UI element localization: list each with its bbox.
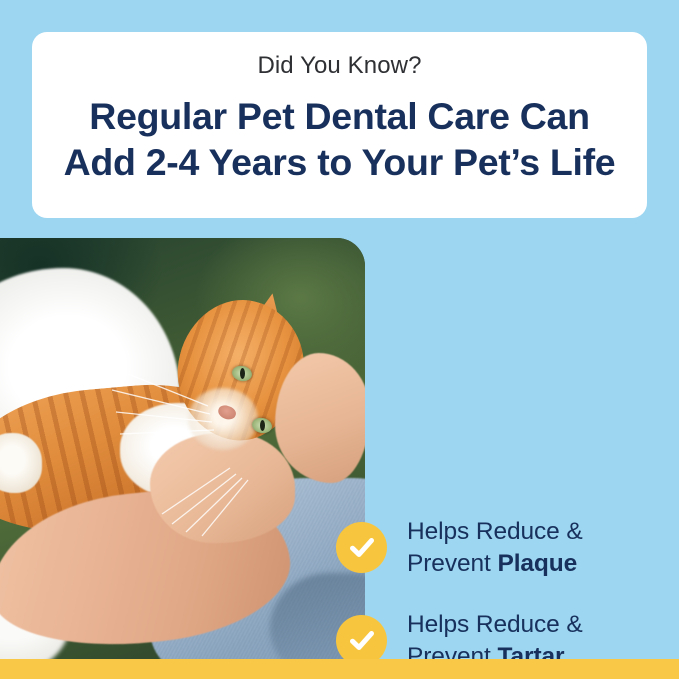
page-title: Regular Pet Dental Care Can Add 2-4 Year…: [64, 93, 616, 186]
bottom-accent-bar: [0, 659, 679, 679]
benefit-line-1: Helps Reduce &: [407, 609, 583, 641]
cat-photo: [0, 238, 365, 659]
headline-card: Did You Know? Regular Pet Dental Care Ca…: [32, 32, 647, 218]
eyebrow-text: Did You Know?: [257, 52, 421, 81]
benefit-line-2-bold: Plaque: [497, 550, 577, 577]
benefit-line-2: Prevent Plaque: [407, 548, 583, 580]
benefits-list: Helps Reduce & Prevent Plaque Helps Redu…: [336, 238, 679, 659]
benefit-label: Helps Reduce & Prevent Plaque: [407, 516, 583, 580]
benefit-line-1: Helps Reduce &: [407, 516, 583, 548]
benefit-line-2-plain: Prevent: [407, 550, 497, 577]
headline-line-1: Regular Pet Dental Care Can: [64, 93, 616, 140]
benefit-item-plaque: Helps Reduce & Prevent Plaque: [336, 516, 679, 580]
infographic-root: Did You Know? Regular Pet Dental Care Ca…: [0, 0, 679, 679]
check-icon: [336, 522, 387, 573]
cat-muzzle: [188, 388, 258, 450]
headline-line-2: Add 2-4 Years to Your Pet’s Life: [64, 139, 616, 186]
cat-pupil-right: [260, 420, 265, 431]
cat-pupil-left: [240, 368, 245, 379]
